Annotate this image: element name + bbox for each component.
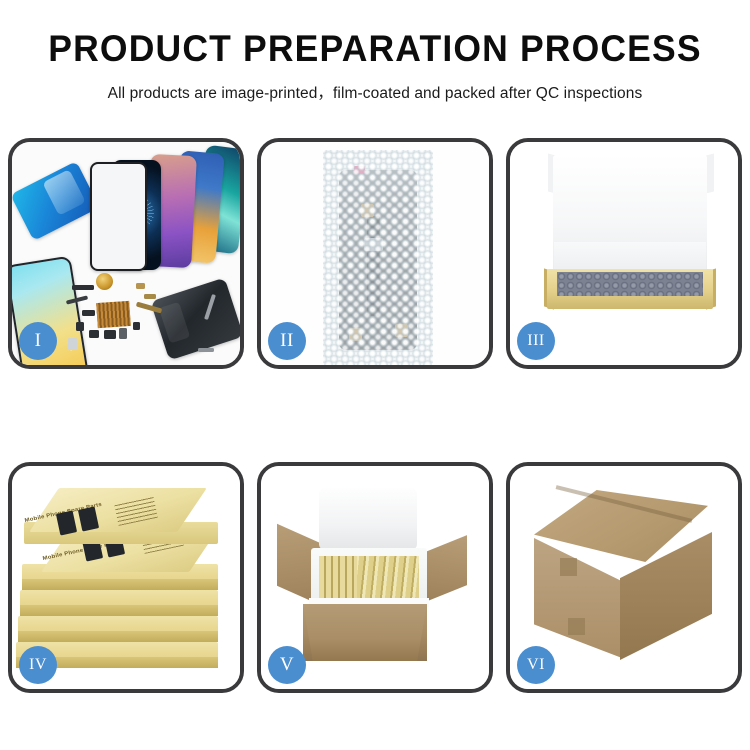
- phone-back-glass-blue: [12, 161, 100, 241]
- step-panel-1: I: [8, 138, 244, 369]
- step-badge-1: I: [19, 322, 57, 360]
- step-badge-2: II: [268, 322, 306, 360]
- yellow-boxes-inside-stacked: [319, 556, 357, 602]
- carton-tab-upper: [560, 558, 577, 576]
- carton-left-face: [534, 538, 622, 658]
- screen-protector-glass: [90, 162, 147, 271]
- small-part-1: [72, 285, 94, 290]
- step-panel-3: III: [506, 138, 742, 369]
- step-panel-4: Mobile Phone Spare Parts Mobile Phone Sp…: [8, 462, 244, 693]
- small-part-4: [82, 310, 95, 316]
- vibration-motor-part: [96, 273, 113, 290]
- step-image-5: V: [261, 466, 489, 689]
- step-panel-2: II: [257, 138, 493, 369]
- small-part-10: [68, 338, 77, 350]
- stacked-box-3: [20, 590, 218, 616]
- speaker-mesh-part: [96, 301, 131, 328]
- small-part-5: [76, 322, 84, 331]
- product-preparation-infographic: PRODUCT PREPARATION PROCESS All products…: [0, 0, 750, 750]
- step-image-1: I: [12, 142, 240, 365]
- small-part-8: [119, 328, 127, 339]
- screw-set: [198, 348, 214, 352]
- step-image-2: II: [261, 142, 489, 365]
- bubble-wrap-bag: [323, 150, 433, 365]
- header: PRODUCT PREPARATION PROCESS All products…: [0, 0, 750, 103]
- step-badge-3: III: [517, 322, 555, 360]
- small-part-9: [133, 322, 140, 330]
- carton-right-flap: [423, 535, 467, 603]
- page-subtitle: All products are image-printed，film-coat…: [0, 81, 750, 103]
- step-panel-6: VI: [506, 462, 742, 693]
- step-image-3: III: [510, 142, 738, 365]
- page-title: PRODUCT PREPARATION PROCESS: [15, 30, 735, 67]
- step-badge-5: V: [268, 646, 306, 684]
- step-image-6: VI: [510, 466, 738, 689]
- phone-back-housing: [150, 277, 240, 360]
- step-badge-6: VI: [517, 646, 555, 684]
- small-part-7: [104, 330, 116, 339]
- steps-grid: I II: [8, 138, 742, 693]
- foam-box-lid: [319, 488, 417, 550]
- step-badge-4: IV: [19, 646, 57, 684]
- carton-front-face: [303, 604, 427, 661]
- step-panel-5: V: [257, 462, 493, 693]
- bubble-wrapped-contents: [557, 272, 703, 296]
- small-part-2: [136, 283, 145, 289]
- carton-tab-lower: [568, 618, 585, 635]
- small-part-3: [144, 294, 156, 299]
- stacked-box-4: [18, 616, 218, 642]
- step-image-4: Mobile Phone Spare Parts Mobile Phone Sp…: [12, 466, 240, 689]
- small-part-6: [89, 330, 99, 338]
